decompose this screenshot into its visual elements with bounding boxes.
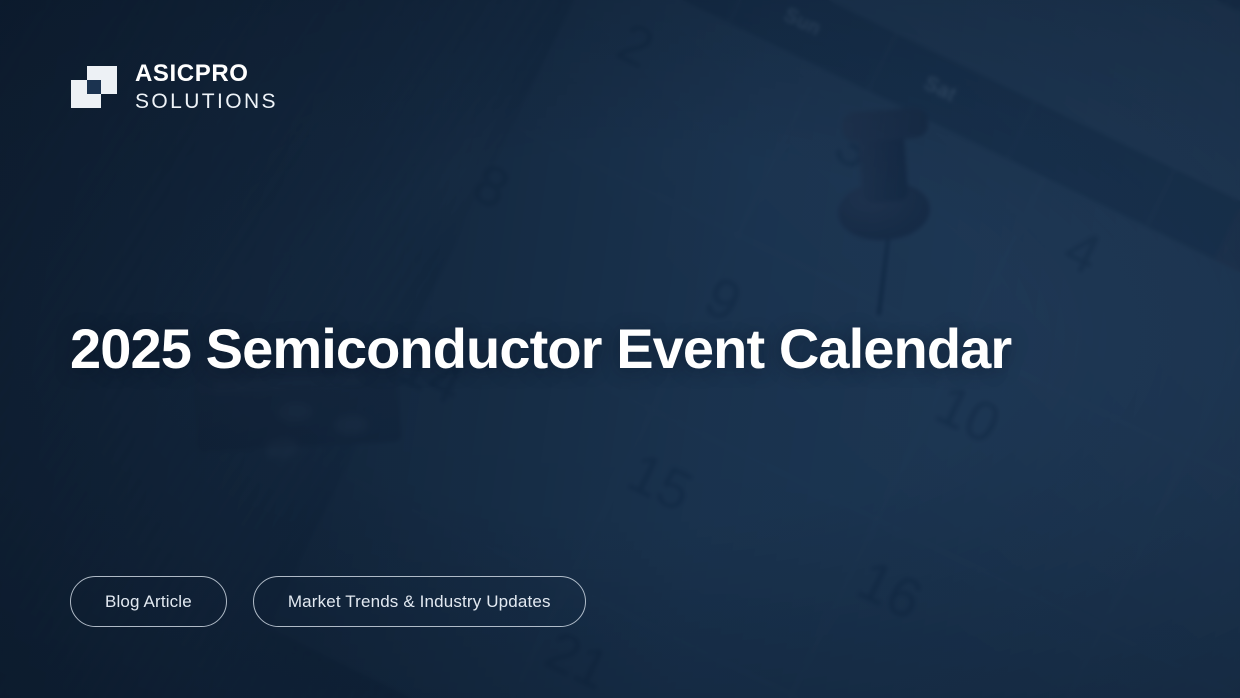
page-title: 2025 Semiconductor Event Calendar xyxy=(70,318,1011,381)
tag-blog-article[interactable]: Blog Article xyxy=(70,576,227,627)
tag-market-trends[interactable]: Market Trends & Industry Updates xyxy=(253,576,586,627)
brand-name-secondary: SOLUTIONS xyxy=(135,91,278,112)
two-overlapping-squares-icon xyxy=(70,65,118,109)
brand-wordmark: ASICPRO SOLUTIONS xyxy=(135,62,278,112)
hero-banner: Mon Sun Sat 2 3 4 8 9 10 14 15 16 21 22 … xyxy=(0,0,1240,698)
brand-name-primary: ASICPRO xyxy=(135,62,278,86)
tag-list: Blog Article Market Trends & Industry Up… xyxy=(70,576,586,627)
hero-content: ASICPRO SOLUTIONS 2025 Semiconductor Eve… xyxy=(0,0,1240,698)
brand-logo[interactable]: ASICPRO SOLUTIONS xyxy=(70,62,278,112)
